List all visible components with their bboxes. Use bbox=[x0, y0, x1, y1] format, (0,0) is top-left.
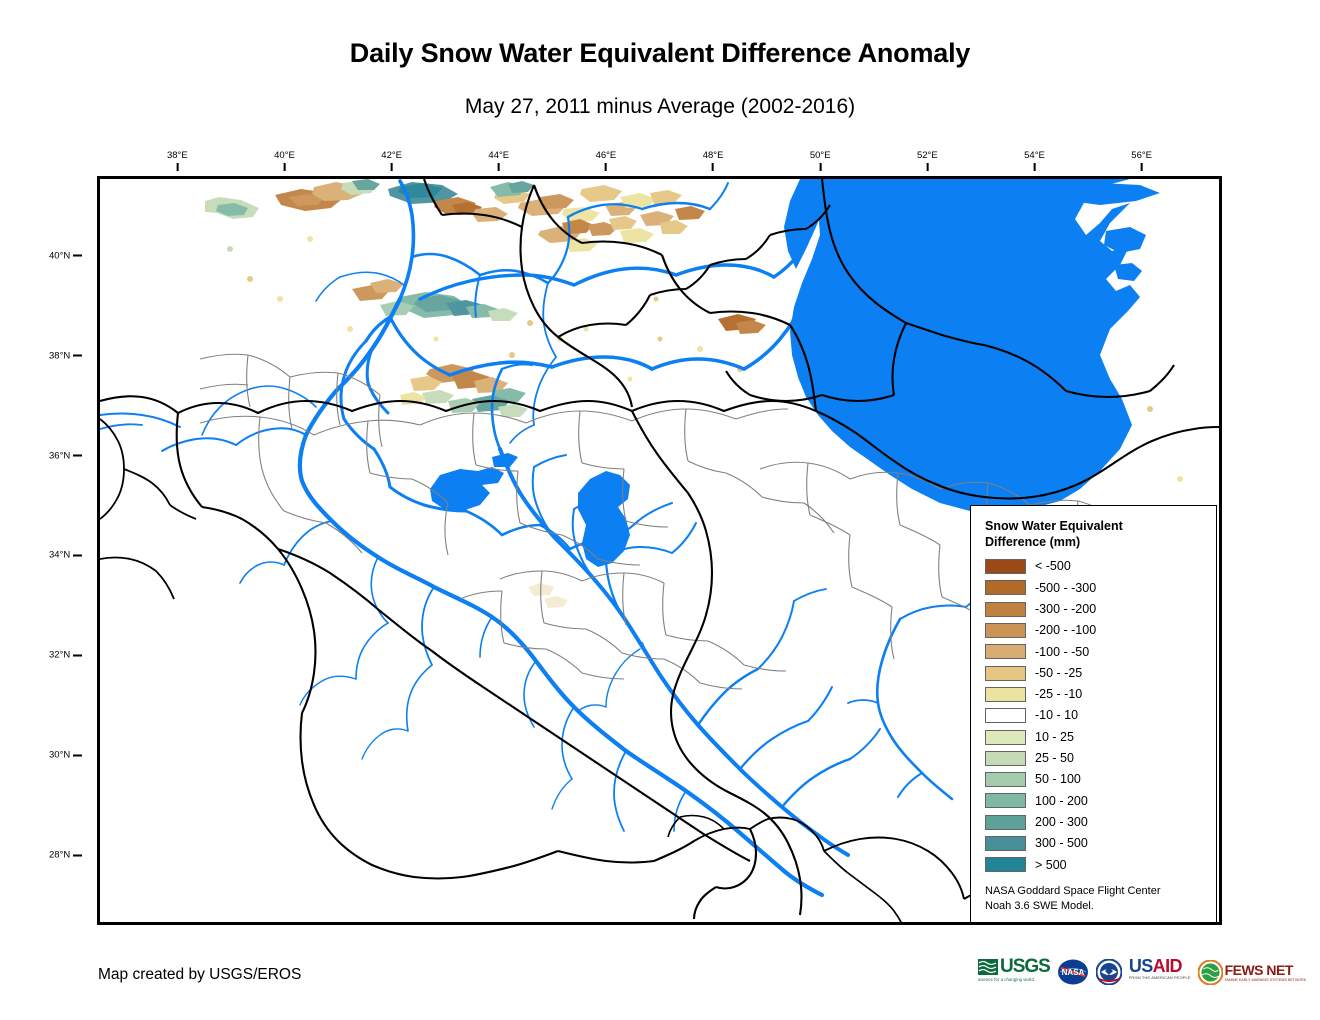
noaa-seal-icon bbox=[1096, 959, 1122, 985]
saudi-iraq-border bbox=[301, 713, 559, 879]
longitude-tick-label: 50°E bbox=[810, 150, 831, 161]
lake-urmia bbox=[578, 471, 630, 567]
longitude-tick: 48°E bbox=[703, 150, 724, 171]
longitude-tick-label: 40°E bbox=[274, 150, 295, 161]
legend-swatch bbox=[985, 602, 1026, 617]
fews-globe-icon bbox=[1198, 960, 1223, 985]
legend-panel: Snow Water Equivalent Difference (mm) < … bbox=[970, 505, 1217, 923]
longitude-tick-mark bbox=[605, 163, 607, 171]
legend-row: -25 - -10 bbox=[985, 684, 1206, 705]
legend-row: -10 - 10 bbox=[985, 705, 1206, 726]
usgs-wave-icon bbox=[978, 959, 998, 975]
map-credit: Map created by USGS/EROS bbox=[98, 966, 301, 984]
legend-swatch bbox=[985, 751, 1026, 766]
usgs-logo: USGS science for a changing world bbox=[978, 957, 1050, 987]
page-subtitle: May 27, 2011 minus Average (2002-2016) bbox=[0, 95, 1320, 119]
fews-logo-text: FEWS NET bbox=[1225, 963, 1307, 977]
legend-row: 25 - 50 bbox=[985, 748, 1206, 769]
latitude-tick-label: 40°N bbox=[49, 250, 70, 261]
legend-source-note: NASA Goddard Space Flight Center Noah 3.… bbox=[985, 884, 1206, 913]
latitude-tick-label: 38°N bbox=[49, 350, 70, 361]
legend-label: < -500 bbox=[1035, 560, 1071, 573]
legend-swatch bbox=[985, 730, 1026, 745]
legend-row: > 500 bbox=[985, 854, 1206, 875]
legend-row: -300 - -200 bbox=[985, 599, 1206, 620]
legend-row: 10 - 25 bbox=[985, 726, 1206, 747]
longitude-tick: 52°E bbox=[917, 150, 938, 171]
legend-swatch bbox=[985, 623, 1026, 638]
longitude-tick-mark bbox=[391, 163, 393, 171]
longitude-tick-label: 38°E bbox=[167, 150, 188, 161]
longitude-tick-mark bbox=[283, 163, 285, 171]
latitude-tick-mark bbox=[73, 455, 82, 457]
latitude-tick: 30°N bbox=[49, 750, 82, 761]
legend-label: -25 - -10 bbox=[1035, 688, 1082, 701]
longitude-tick-label: 52°E bbox=[917, 150, 938, 161]
nasa-logo: NASA bbox=[1057, 957, 1089, 987]
legend-title: Snow Water Equivalent Difference (mm) bbox=[985, 518, 1206, 550]
noaa-logo bbox=[1096, 957, 1122, 987]
longitude-tick-mark bbox=[498, 163, 500, 171]
longitude-tick-label: 54°E bbox=[1024, 150, 1045, 161]
latitude-tick-label: 28°N bbox=[49, 850, 70, 861]
longitude-tick-label: 46°E bbox=[596, 150, 617, 161]
longitude-tick: 38°E bbox=[167, 150, 188, 171]
legend-label: -50 - -25 bbox=[1035, 667, 1082, 680]
legend-swatch bbox=[985, 559, 1026, 574]
turkey-syria-border bbox=[100, 396, 632, 413]
syria-iraq-border bbox=[632, 411, 802, 915]
iraq-iran-border bbox=[632, 401, 816, 411]
legend-swatch bbox=[985, 793, 1026, 808]
legend-label: -200 - -100 bbox=[1035, 624, 1096, 637]
legend-swatch bbox=[985, 708, 1026, 723]
latitude-tick-label: 30°N bbox=[49, 750, 70, 761]
legend-label: > 500 bbox=[1035, 859, 1067, 872]
usaid-logo: USAID FROM THE AMERICAN PEOPLE bbox=[1129, 957, 1191, 987]
longitude-tick: 42°E bbox=[381, 150, 402, 171]
latitude-tick: 38°N bbox=[49, 350, 82, 361]
legend-label: 10 - 25 bbox=[1035, 731, 1074, 744]
legend-swatch bbox=[985, 580, 1026, 595]
legend-label: -10 - 10 bbox=[1035, 709, 1078, 722]
latitude-tick-mark bbox=[73, 654, 82, 656]
legend-row: 300 - 500 bbox=[985, 833, 1206, 854]
legend-label: -500 - -300 bbox=[1035, 582, 1096, 595]
latitude-tick: 28°N bbox=[49, 850, 82, 861]
legend-row: 50 - 100 bbox=[985, 769, 1206, 790]
longitude-tick-mark bbox=[176, 163, 178, 171]
map-page: Daily Snow Water Equivalent Difference A… bbox=[0, 0, 1320, 1020]
legend-swatch bbox=[985, 772, 1026, 787]
legend-row: 200 - 300 bbox=[985, 812, 1206, 833]
latitude-tick-label: 36°N bbox=[49, 450, 70, 461]
latitude-tick: 32°N bbox=[49, 650, 82, 661]
longitude-tick-mark bbox=[926, 163, 928, 171]
latitude-tick-mark bbox=[73, 255, 82, 257]
usgs-logo-subtext: science for a changing world bbox=[978, 977, 1034, 982]
longitude-tick-mark bbox=[1141, 163, 1143, 171]
longitude-tick: 50°E bbox=[810, 150, 831, 171]
river-euphrates bbox=[300, 299, 822, 895]
legend-swatch bbox=[985, 644, 1026, 659]
legend-swatch bbox=[985, 666, 1026, 681]
longitude-tick: 46°E bbox=[596, 150, 617, 171]
latitude-tick-label: 34°N bbox=[49, 550, 70, 561]
latitude-tick-label: 32°N bbox=[49, 650, 70, 661]
latitude-tick: 40°N bbox=[49, 250, 82, 261]
fews-logo: FEWS NET FAMINE EARLY WARNING SYSTEMS NE… bbox=[1198, 957, 1307, 987]
legend-label: 300 - 500 bbox=[1035, 837, 1088, 850]
agency-logos: USGS science for a changing world NASA bbox=[978, 955, 1306, 989]
fews-logo-subtext: FAMINE EARLY WARNING SYSTEMS NETWORK bbox=[1225, 978, 1307, 982]
latitude-tick-mark bbox=[73, 355, 82, 357]
legend-label: 25 - 50 bbox=[1035, 752, 1074, 765]
latitude-tick-mark bbox=[73, 754, 82, 756]
legend-label: -300 - -200 bbox=[1035, 603, 1096, 616]
page-title: Daily Snow Water Equivalent Difference A… bbox=[0, 38, 1320, 69]
longitude-tick-label: 56°E bbox=[1131, 150, 1152, 161]
longitude-tick-mark bbox=[819, 163, 821, 171]
legend-row: < -500 bbox=[985, 556, 1206, 577]
lake-van bbox=[430, 467, 504, 511]
legend-row: -500 - -300 bbox=[985, 577, 1206, 598]
nasa-meatball-icon: NASA bbox=[1057, 959, 1089, 985]
legend-swatch bbox=[985, 815, 1026, 830]
legend-label: 100 - 200 bbox=[1035, 795, 1088, 808]
latitude-tick: 34°N bbox=[49, 550, 82, 561]
caspian-sea bbox=[790, 179, 1140, 513]
longitude-tick-mark bbox=[1033, 163, 1035, 171]
longitude-tick-mark bbox=[712, 163, 714, 171]
svg-text:NASA: NASA bbox=[1062, 968, 1085, 977]
longitude-tick: 40°E bbox=[274, 150, 295, 171]
legend-label: -100 - -50 bbox=[1035, 646, 1089, 659]
longitude-tick: 44°E bbox=[488, 150, 509, 171]
legend-items: < -500-500 - -300-300 - -200-200 - -100-… bbox=[985, 556, 1206, 875]
longitude-tick-label: 48°E bbox=[703, 150, 724, 161]
usgs-logo-text: USGS bbox=[1000, 957, 1050, 976]
longitude-tick: 56°E bbox=[1131, 150, 1152, 171]
legend-label: 200 - 300 bbox=[1035, 816, 1088, 829]
longitude-tick: 54°E bbox=[1024, 150, 1045, 171]
legend-swatch bbox=[985, 836, 1026, 851]
longitude-tick-label: 42°E bbox=[381, 150, 402, 161]
legend-row: 100 - 200 bbox=[985, 790, 1206, 811]
legend-label: 50 - 100 bbox=[1035, 773, 1081, 786]
usaid-logo-subtext: FROM THE AMERICAN PEOPLE bbox=[1129, 976, 1191, 980]
legend-swatch bbox=[985, 857, 1026, 872]
latitude-tick-mark bbox=[73, 554, 82, 556]
legend-row: -100 - -50 bbox=[985, 641, 1206, 662]
longitude-tick-label: 44°E bbox=[488, 150, 509, 161]
latitude-tick: 36°N bbox=[49, 450, 82, 461]
latitude-tick-mark bbox=[73, 854, 82, 856]
river-karun bbox=[877, 619, 952, 799]
iraq-syria-west-border bbox=[202, 507, 278, 549]
legend-row: -200 - -100 bbox=[985, 620, 1206, 641]
legend-row: -50 - -25 bbox=[985, 662, 1206, 683]
syria-jordan-border bbox=[278, 549, 316, 713]
legend-swatch bbox=[985, 687, 1026, 702]
